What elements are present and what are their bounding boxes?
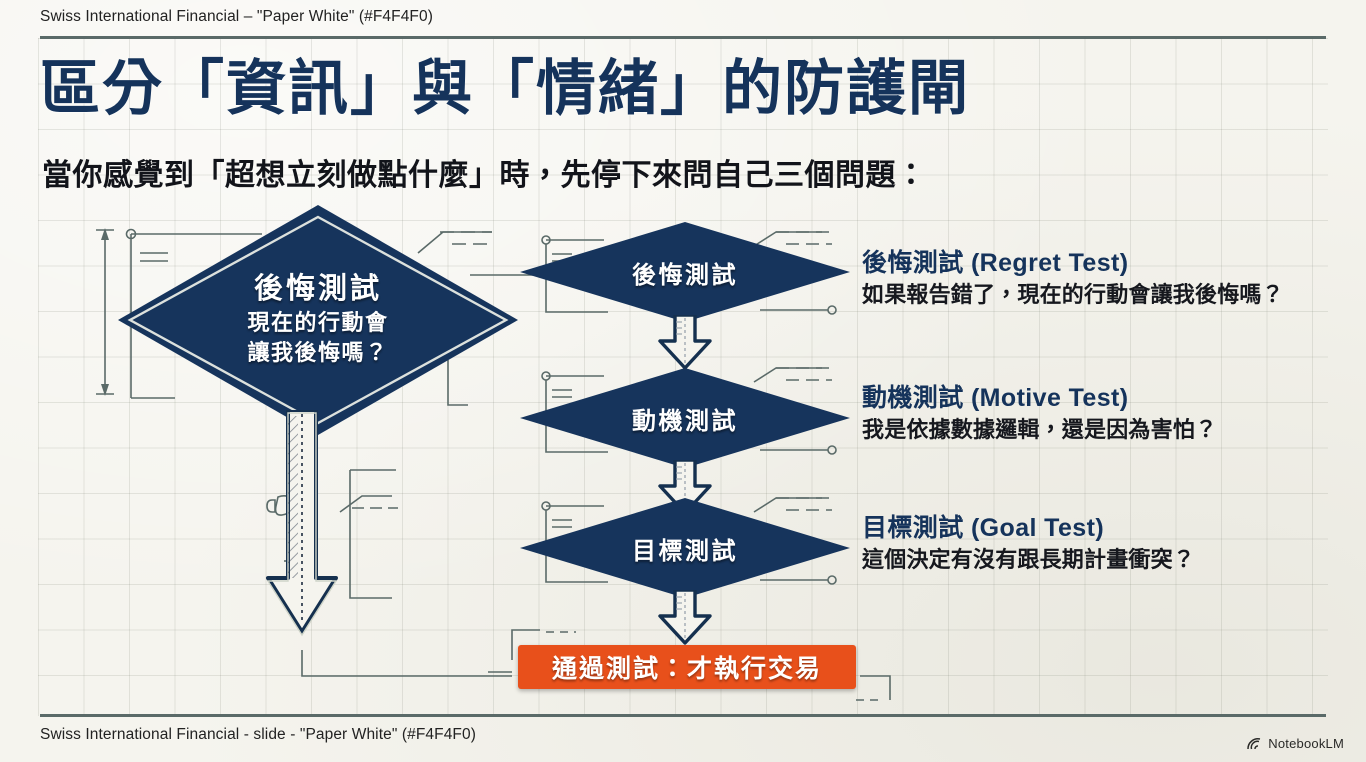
step-diamond-goal: 目標測試	[520, 498, 850, 598]
footer-divider	[40, 714, 1326, 717]
step-diamond-label: 動機測試	[632, 401, 738, 436]
step-label-block-motive: 動機測試 (Motive Test) 我是依據數據邏輯，還是因為害怕？	[862, 383, 1332, 445]
hero-diamond-line2: 讓我後悔嗎？	[247, 338, 388, 368]
step-flow-arrow-1	[656, 315, 714, 371]
notebooklm-label: NotebookLM	[1268, 736, 1344, 751]
page-subtitle: 當你感覺到「超想立刻做點什麼」時，先停下來問自己三個問題：	[42, 150, 927, 194]
result-banner-label: 通過測試：才執行交易	[552, 649, 822, 685]
notebooklm-spiral-icon	[1247, 737, 1262, 751]
footer-caption: Swiss International Financial - slide - …	[40, 726, 476, 744]
step-diamond-label: 目標測試	[632, 531, 738, 566]
step-label-description: 我是依據數據邏輯，還是因為害怕？	[862, 416, 1332, 445]
step-diamond-label: 後悔測試	[632, 255, 738, 290]
page-title: 區分「資訊」與「情緒」的防護閘	[40, 57, 970, 120]
slide-canvas: Swiss International Financial – "Paper W…	[0, 0, 1366, 762]
step-label-block-goal: 目標測試 (Goal Test) 這個決定有沒有跟長期計畫衝突？	[862, 513, 1332, 575]
step-label-title: 後悔測試 (Regret Test)	[862, 248, 1332, 278]
step-diamond-regret: 後悔測試	[520, 222, 850, 322]
step-label-description: 這個決定有沒有跟長期計畫衝突？	[862, 546, 1332, 575]
step-diamond-motive: 動機測試	[520, 368, 850, 468]
step-label-description: 如果報告錯了，現在的行動會讓我後悔嗎？	[862, 281, 1332, 310]
result-banner: 通過測試：才執行交易	[518, 645, 856, 689]
step-label-block-regret: 後悔測試 (Regret Test) 如果報告錯了，現在的行動會讓我後悔嗎？	[862, 248, 1332, 310]
step-label-title: 目標測試 (Goal Test)	[862, 513, 1332, 543]
hero-decision-diamond: 後悔測試 現在的行動會 讓我後悔嗎？	[118, 205, 518, 435]
step-label-title: 動機測試 (Motive Test)	[862, 383, 1332, 413]
hero-diamond-title: 後悔測試	[254, 273, 382, 306]
header-divider	[40, 36, 1326, 39]
hero-flow-arrow	[262, 410, 342, 640]
header-caption: Swiss International Financial – "Paper W…	[40, 8, 433, 26]
hero-diamond-line1: 現在的行動會	[247, 308, 388, 338]
notebooklm-badge: NotebookLM	[1247, 736, 1344, 751]
step-flow-arrow-3	[656, 590, 714, 646]
